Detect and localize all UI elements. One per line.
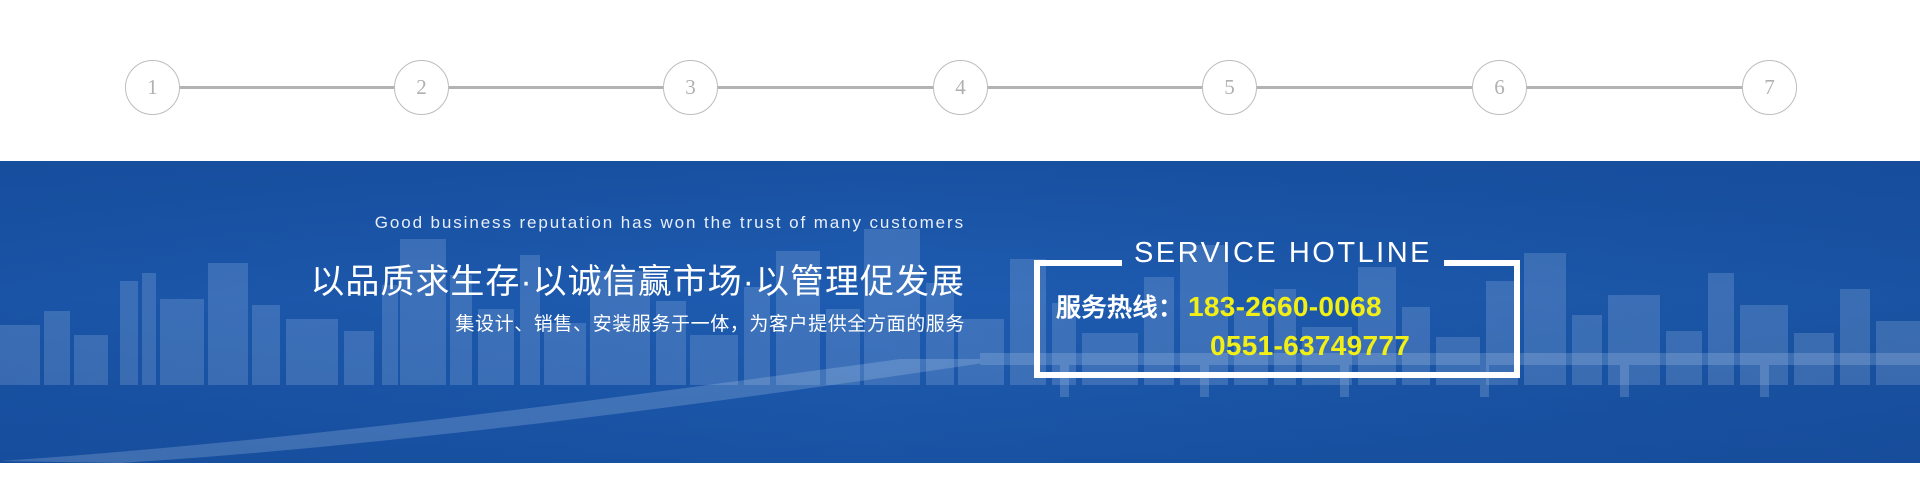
step-number-label: 6	[1494, 77, 1505, 98]
step-item-1[interactable]: 1	[125, 60, 180, 115]
slogan-block: Good business reputation has won the tru…	[0, 161, 980, 463]
hotline-border-top-right	[1444, 260, 1520, 266]
hotline-phone-secondary[interactable]: 0551-63749777	[1210, 330, 1410, 361]
step-number-label: 7	[1764, 77, 1775, 98]
hotline-border-bottom	[1034, 372, 1520, 378]
hotline-primary-row: 服务热线： 183-2660-0068	[1056, 288, 1382, 324]
slogan-chinese-sub: 集设计、销售、安装服务于一体，为客户提供全方面的服务	[455, 309, 965, 336]
service-hotline-box: SERVICE HOTLINE 服务热线： 183-2660-0068 0551…	[1034, 260, 1520, 378]
step-number-label: 1	[147, 77, 158, 98]
step-number-label: 2	[416, 77, 427, 98]
hotline-border-right	[1514, 260, 1520, 378]
step-number-label: 4	[955, 77, 966, 98]
step-item-6[interactable]: 6	[1472, 60, 1527, 115]
step-item-3[interactable]: 3	[663, 60, 718, 115]
hotline-border-left	[1034, 260, 1040, 378]
hotline-title: SERVICE HOTLINE	[1120, 237, 1446, 270]
step-number-label: 3	[685, 77, 696, 98]
slogan-english: Good business reputation has won the tru…	[375, 213, 965, 233]
hotline-phone-primary[interactable]: 183-2660-0068	[1188, 291, 1382, 322]
step-number-label: 5	[1224, 77, 1235, 98]
slogan-chinese-main: 以品质求生存·以诚信赢市场·以管理促发展	[310, 254, 965, 303]
step-item-2[interactable]: 2	[394, 60, 449, 115]
hotline-secondary-row: 0551-63749777	[1056, 330, 1410, 362]
step-item-5[interactable]: 5	[1202, 60, 1257, 115]
step-progress-bar: 1 2 3 4 5 6 7	[0, 0, 1920, 161]
hotline-label: 服务热线：	[1056, 294, 1184, 322]
step-item-7[interactable]: 7	[1742, 60, 1797, 115]
step-item-4[interactable]: 4	[933, 60, 988, 115]
hotline-border-top-left	[1034, 260, 1122, 266]
page-root: 1 2 3 4 5 6 7	[0, 0, 1920, 500]
promo-banner: Good business reputation has won the tru…	[0, 161, 1920, 463]
